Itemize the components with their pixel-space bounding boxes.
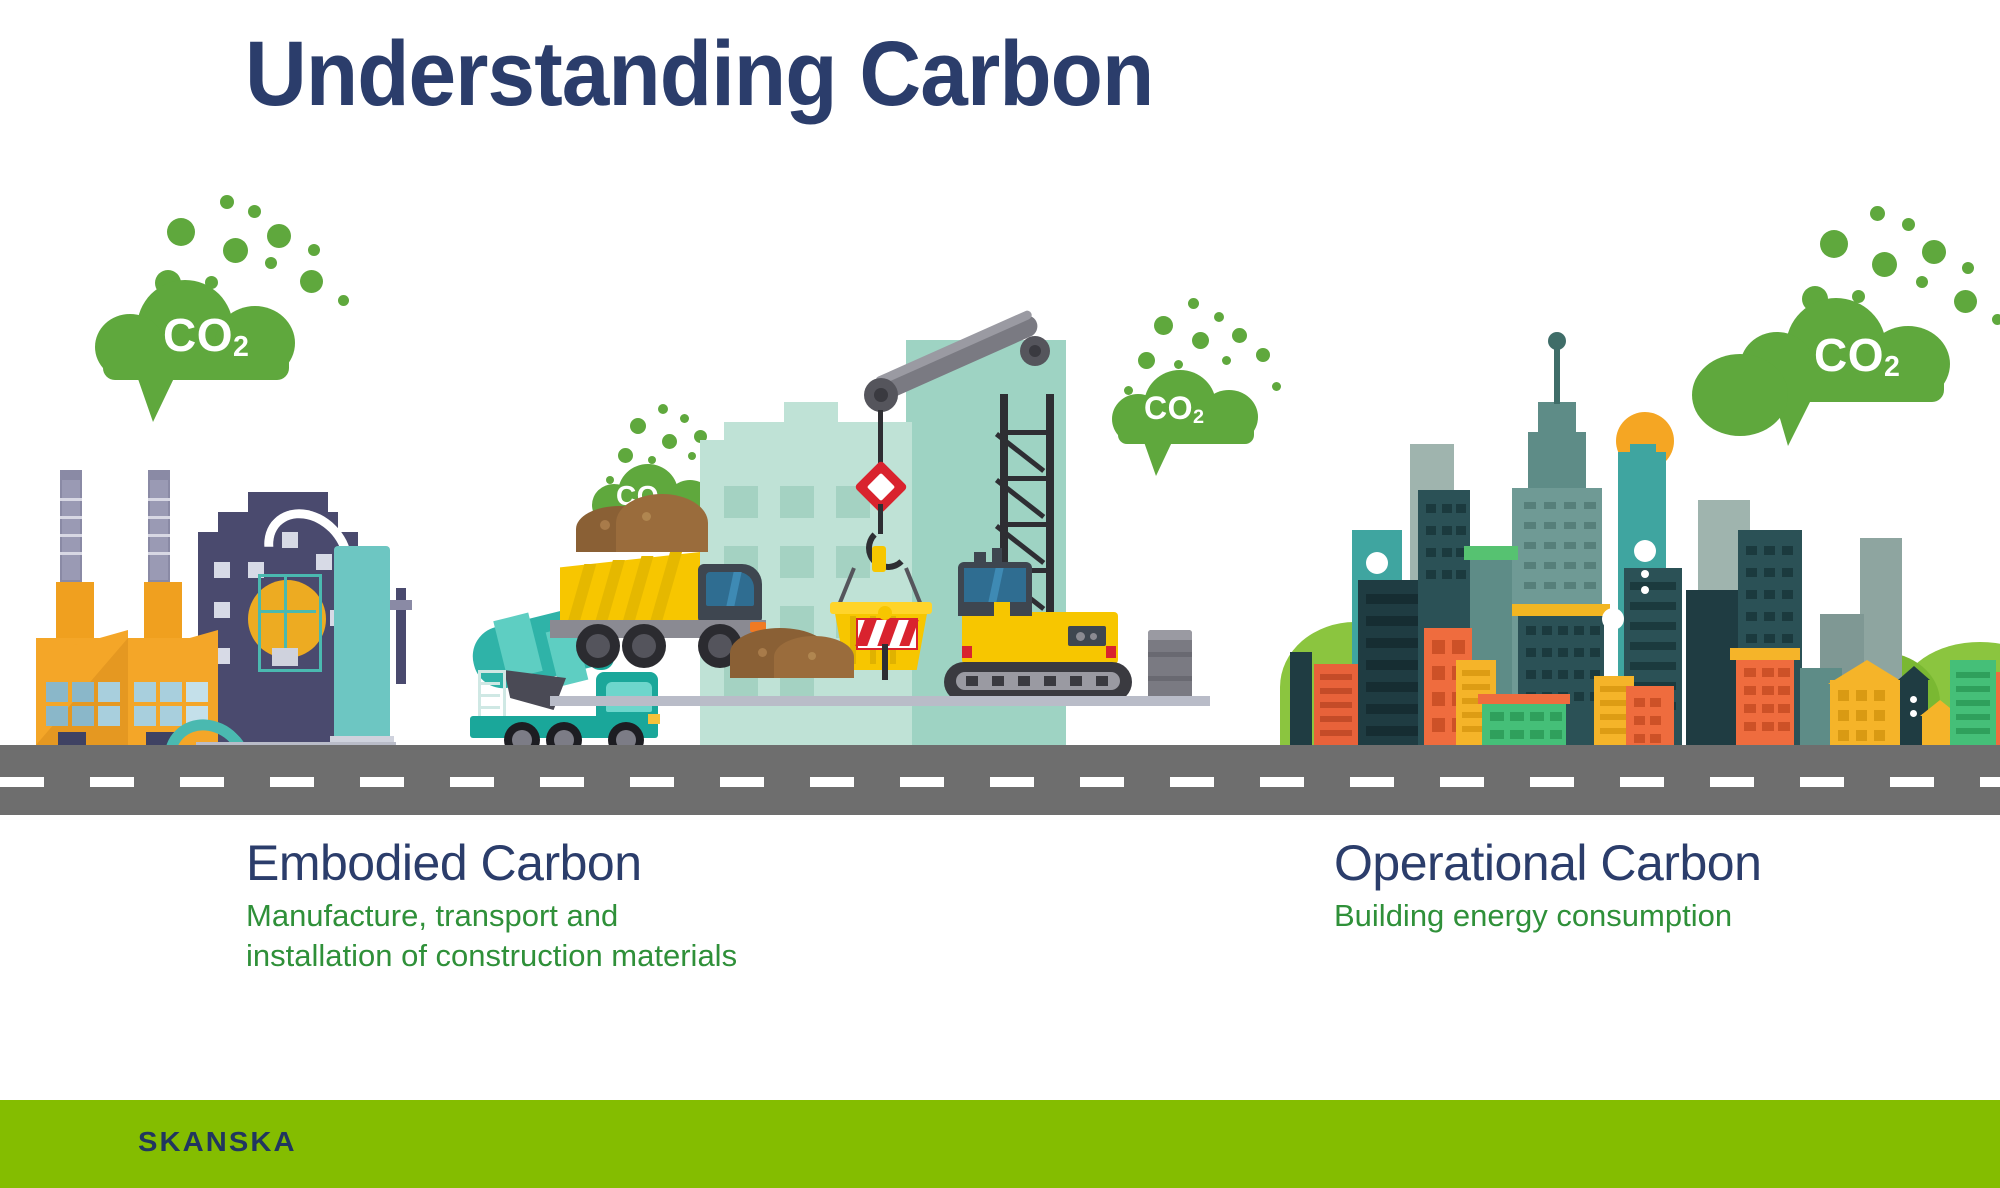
- construction-site-illustration: [700, 340, 1260, 760]
- caption-embodied-carbon: Embodied Carbon Manufacture, transport a…: [246, 836, 737, 975]
- road-center-line: [0, 777, 2000, 787]
- caption-body: Building energy consumption: [1334, 896, 1761, 936]
- caption-heading: Operational Carbon: [1334, 836, 1761, 890]
- co2-cloud-label: CO2: [163, 308, 249, 362]
- building-light: [1602, 608, 1624, 630]
- co2-subscript: 2: [233, 331, 249, 363]
- tree-canopy: [1692, 354, 1788, 436]
- co2-cloud-factory: CO2: [95, 150, 355, 380]
- building-light: [1634, 540, 1656, 562]
- slide-canvas: Understanding Carbon CO2: [0, 0, 2000, 1188]
- skanska-logo: SKANSKA: [138, 1126, 297, 1158]
- building-light: [1366, 552, 1388, 574]
- oil-barrel: [1148, 630, 1192, 702]
- caption-body: Manufacture, transport and installation …: [246, 896, 737, 975]
- footer-band: SKANSKA: [0, 1100, 2000, 1188]
- building-orange: [1290, 652, 1312, 750]
- co2-text: CO: [163, 309, 233, 361]
- caption-operational-carbon: Operational Carbon Building energy consu…: [1334, 836, 1761, 936]
- caption-heading: Embodied Carbon: [246, 836, 737, 890]
- factory-cylinder-tank: [334, 546, 390, 744]
- building-orange: [1996, 672, 2000, 750]
- city-skyline-illustration: [1300, 360, 2000, 750]
- page-title: Understanding Carbon: [245, 22, 1153, 127]
- caption-body-line1: Manufacture, transport and: [246, 898, 618, 933]
- building-dark: [1686, 590, 1738, 750]
- caption-body-line2: installation of construction materials: [246, 938, 737, 973]
- caption-body-line1: Building energy consumption: [1334, 898, 1732, 933]
- co2-cloud-tail: [137, 376, 175, 422]
- factory-illustration: [0, 470, 420, 760]
- building-green: [1482, 702, 1566, 750]
